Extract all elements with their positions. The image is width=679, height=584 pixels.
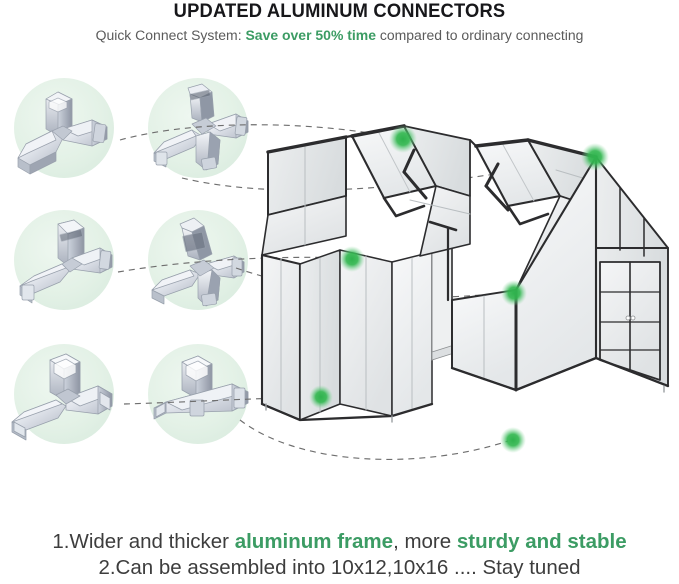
page-title: UPDATED ALUMINUM CONNECTORS bbox=[20, 0, 658, 22]
subtitle-pre: Quick Connect System: bbox=[96, 28, 246, 44]
connector-markers bbox=[309, 125, 609, 453]
connector-thumb-three-way-tee-a bbox=[6, 206, 126, 314]
marker-base-left bbox=[309, 385, 333, 409]
marker-roof-ridge-right bbox=[581, 143, 609, 171]
thumb-disc bbox=[148, 78, 248, 178]
marker-eave-left bbox=[339, 246, 365, 272]
marker-base-front bbox=[500, 427, 526, 453]
footer-l1-mid: , more bbox=[393, 530, 457, 553]
marker-eave-mid bbox=[501, 280, 527, 306]
thumb-disc bbox=[148, 344, 248, 444]
footer-l1-highlight-1: aluminum frame bbox=[235, 530, 393, 553]
infographic-root: UPDATED ALUMINUM CONNECTORS Quick Connec… bbox=[0, 0, 679, 584]
connector-thumb-tee-rail bbox=[140, 340, 260, 448]
page-subtitle: Quick Connect System: Save over 50% time… bbox=[5, 26, 674, 46]
connector-thumb-three-way-corner-b bbox=[6, 340, 126, 448]
marker-roof-ridge-left bbox=[389, 125, 417, 153]
thumb-disc bbox=[148, 210, 248, 310]
leader-line-6 bbox=[240, 420, 508, 459]
footer-l1-pre: 1.Wider and thicker bbox=[52, 530, 234, 553]
connector-thumb-four-way-cross-b bbox=[140, 206, 260, 314]
footer-line-1: 1.Wider and thicker aluminum frame, more… bbox=[0, 529, 679, 554]
connector-thumb-four-way-cross-a bbox=[140, 74, 260, 182]
thumb-disc bbox=[14, 344, 114, 444]
subtitle-post: compared to ordinary connecting bbox=[376, 28, 583, 44]
thumb-disc bbox=[14, 78, 114, 178]
footer-l1-highlight-2: sturdy and stable bbox=[457, 530, 627, 553]
leader-line-4 bbox=[236, 268, 510, 297]
subtitle-highlight: Save over 50% time bbox=[245, 28, 376, 44]
connector-thumb-three-way-corner-a bbox=[6, 74, 126, 182]
thumb-disc bbox=[14, 210, 114, 310]
footer-line-2: 2.Can be assembled into 10x12,10x16 ....… bbox=[0, 555, 679, 580]
